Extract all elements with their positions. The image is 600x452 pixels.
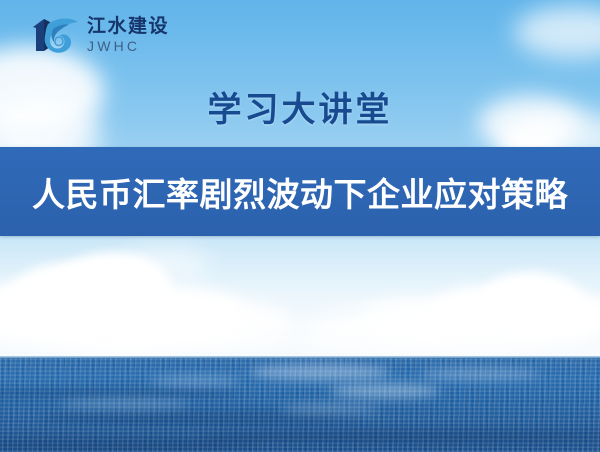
sea-glint [330, 384, 440, 398]
logo-text-block: 江水建设 JWHC [87, 17, 169, 53]
poster-canvas: 江水建设 JWHC 学习大讲堂 人民币汇率剧烈波动下企业应对策略 [0, 0, 600, 452]
sea-glint [150, 376, 240, 386]
sea-glint [420, 368, 540, 380]
wave-band [40, 412, 360, 424]
cloud-shape [514, 6, 600, 58]
sea-glint [280, 404, 380, 414]
logo-company-name-cn: 江水建设 [87, 17, 169, 36]
title-banner: 人民币汇率剧烈波动下企业应对策略 [0, 147, 600, 236]
wave-band [200, 430, 600, 443]
sea-glint [250, 364, 390, 380]
jwhc-logo-mark-icon [30, 14, 80, 56]
logo-company-name-en: JWHC [87, 39, 169, 53]
sea-background [0, 358, 600, 452]
horizon-haze [0, 228, 600, 358]
sea-glint [60, 398, 190, 410]
company-logo: 江水建设 JWHC [30, 14, 169, 56]
page-headline: 学习大讲堂 [0, 82, 600, 131]
banner-title-text: 人民币汇率剧烈波动下企业应对策略 [32, 168, 568, 216]
